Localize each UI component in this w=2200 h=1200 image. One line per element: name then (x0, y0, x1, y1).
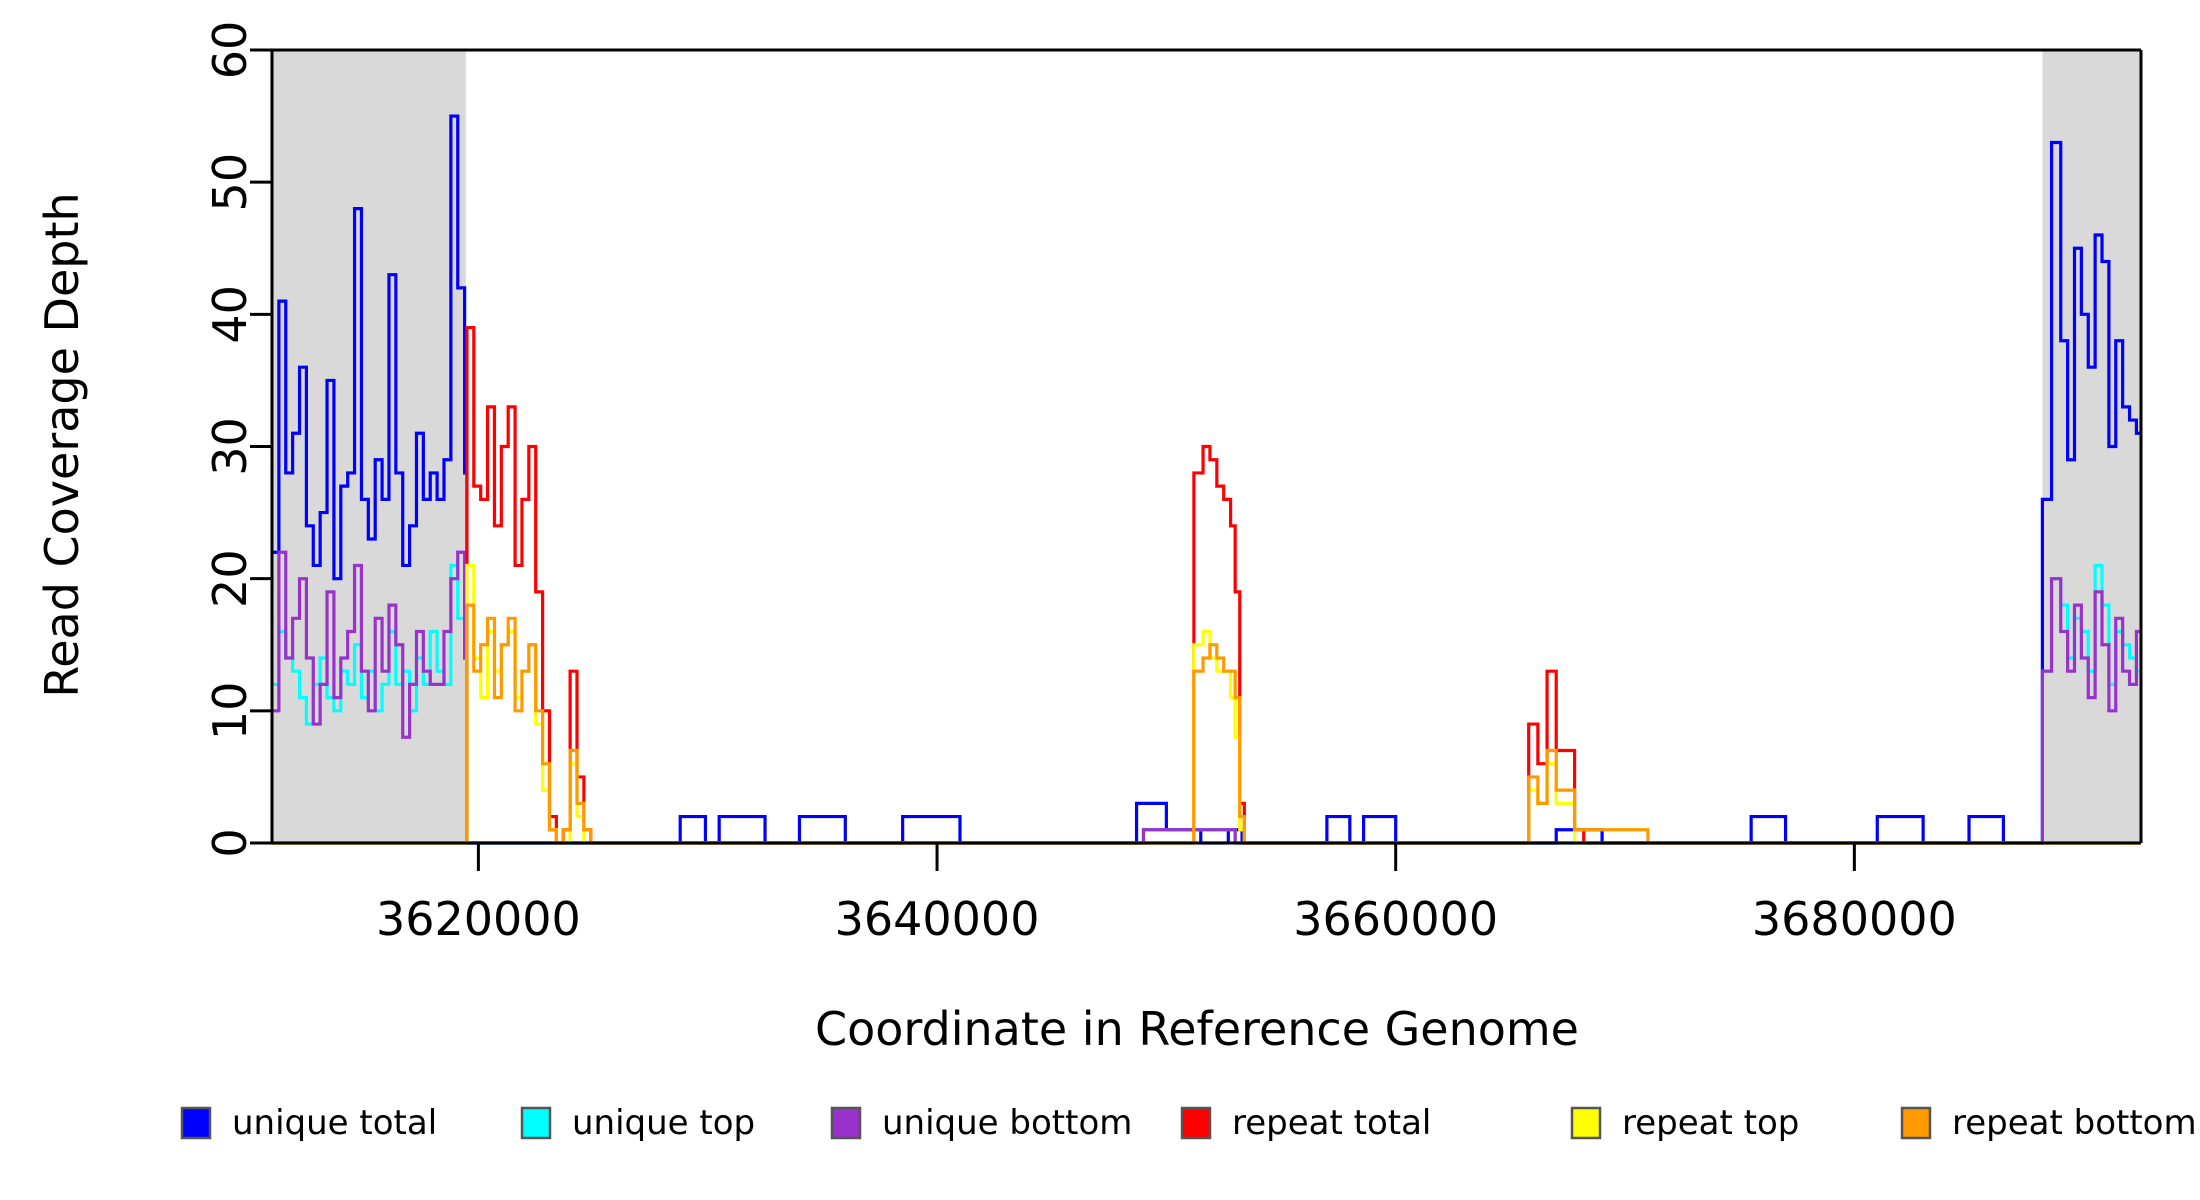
legend-swatch-unique-bottom (832, 1108, 860, 1138)
legend-swatch-repeat-total (1182, 1108, 1210, 1138)
chart-root: 0102030405060362000036400003660000368000… (0, 0, 2200, 1200)
legend-swatch-repeat-top (1572, 1108, 1600, 1138)
y-tick-label-10: 10 (203, 682, 257, 741)
legend-swatch-unique-total (182, 1108, 210, 1138)
x-tick-label-3680000: 3680000 (1752, 892, 1957, 946)
legend-label-unique-total: unique total (232, 1103, 437, 1143)
legend-label-unique-bottom: unique bottom (882, 1103, 1132, 1143)
y-axis-title: Read Coverage Depth (35, 192, 89, 697)
y-tick-label-40: 40 (203, 285, 257, 344)
unique-region-right (2042, 50, 2141, 843)
y-tick-label-50: 50 (203, 153, 257, 212)
y-tick-label-0: 0 (203, 828, 257, 857)
legend-label-repeat-bottom: repeat bottom (1952, 1103, 2197, 1143)
unique-region-left (272, 50, 466, 843)
y-tick-label-20: 20 (203, 549, 257, 608)
x-tick-label-3660000: 3660000 (1293, 892, 1498, 946)
coverage-depth-chart: 0102030405060362000036400003660000368000… (0, 0, 2200, 1200)
x-axis-title: Coordinate in Reference Genome (815, 1002, 1579, 1056)
x-tick-label-3640000: 3640000 (835, 892, 1040, 946)
y-tick-label-30: 30 (203, 417, 257, 476)
legend-swatch-unique-top (522, 1108, 550, 1138)
legend-swatch-repeat-bottom (1902, 1108, 1930, 1138)
legend-label-repeat-total: repeat total (1232, 1103, 1431, 1143)
legend-label-unique-top: unique top (572, 1103, 755, 1143)
legend-label-repeat-top: repeat top (1622, 1103, 1799, 1143)
y-tick-label-60: 60 (203, 21, 257, 80)
x-tick-label-3620000: 3620000 (376, 892, 581, 946)
